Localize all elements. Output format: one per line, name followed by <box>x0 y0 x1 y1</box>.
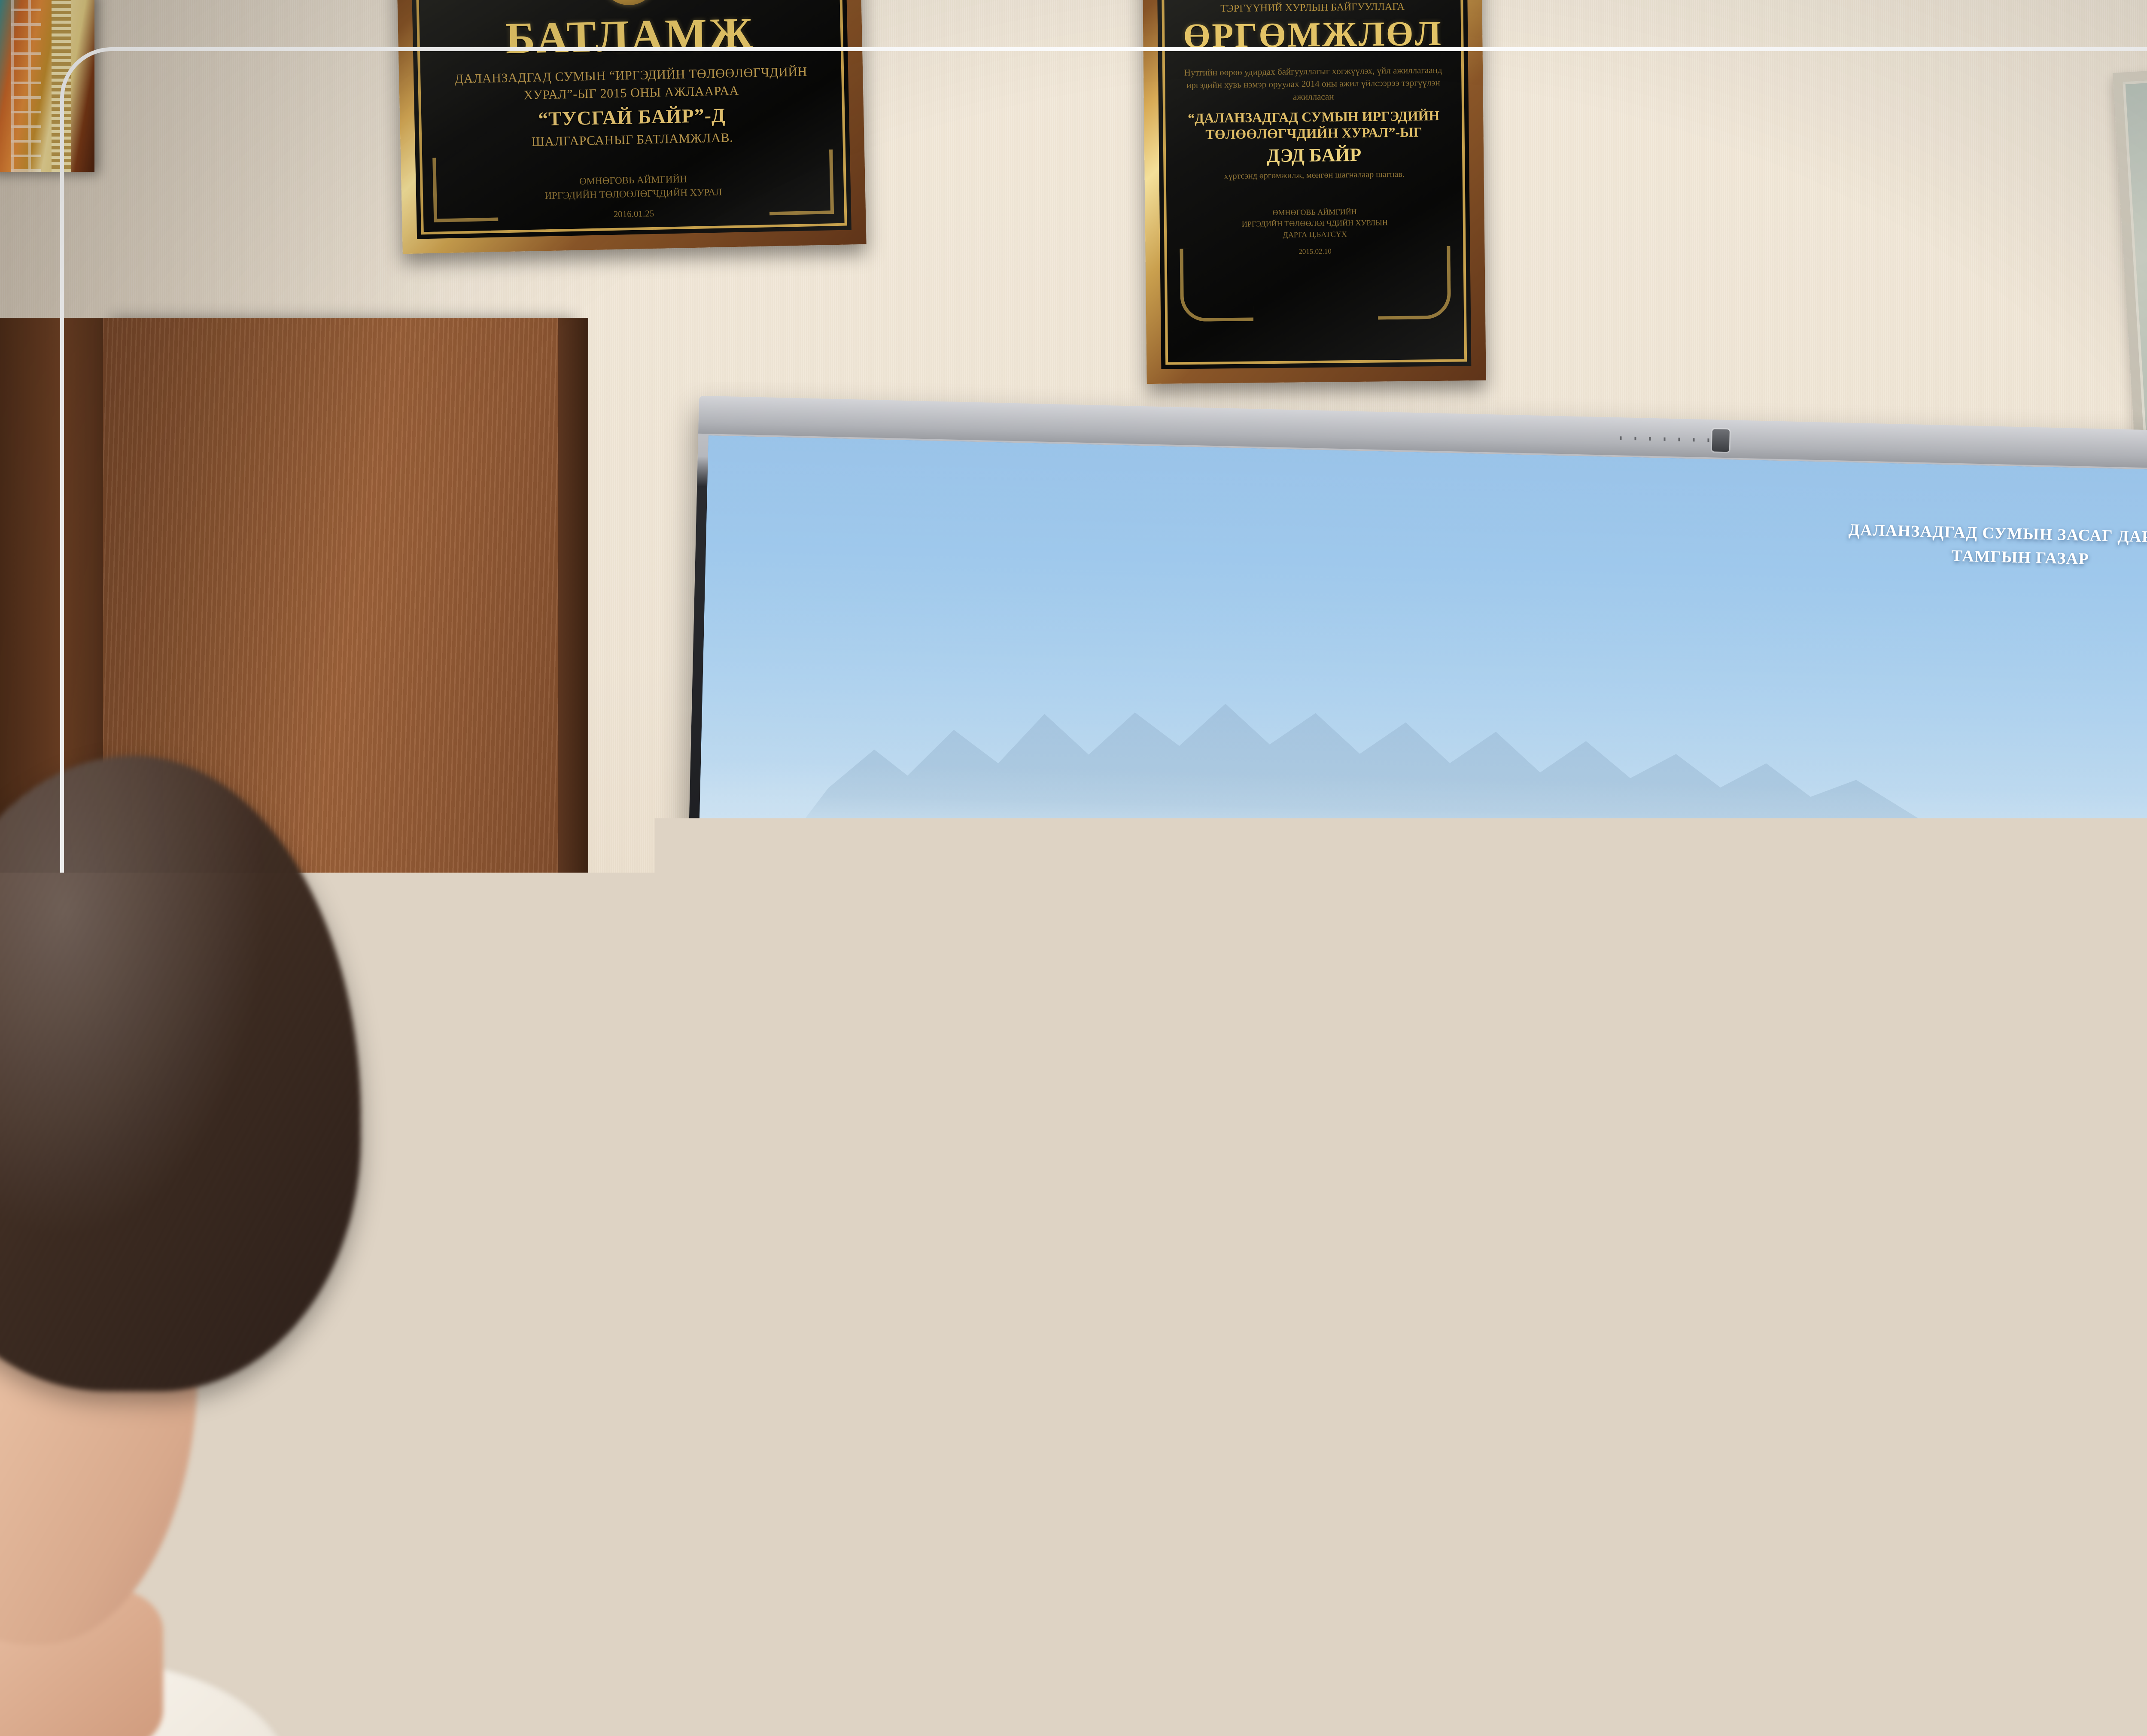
wall-picture-frame-partial <box>0 0 94 172</box>
bottle-cap[interactable] <box>1671 1536 1728 1576</box>
plaque-highlight-2: ТӨЛӨӨЛӨГЧДИЙН ХУРАЛ”-ЫГ <box>1180 124 1447 143</box>
power-icon[interactable] <box>790 1375 809 1393</box>
presentation-slide[interactable]: ДАЛАНЗАДГАД СУМЫН ЗАСАГ ДАРГЫН ТАМГЫН ГА… <box>687 435 2147 1373</box>
water-bottle-blurred-b[interactable] <box>1640 1563 1758 1736</box>
plaque-inner: БАТЛАМЖ ДАЛАНЗАДГАД СУМЫН “ИРГЭДИЙН ТӨЛӨ… <box>411 0 852 239</box>
man-seated <box>2095 1022 2147 1736</box>
folder-b <box>1755 1549 1980 1736</box>
slide-organization: ДАЛАНЗАДГАД СУМЫН ЗАСАГ ДАРГЫН ТАМГЫН ГА… <box>1848 518 2147 574</box>
door-frame-right <box>558 318 588 1736</box>
woman-foreground <box>0 756 438 1736</box>
slide-year: 2026 он <box>1324 1245 1393 1270</box>
plaque-title: ӨРГӨМЖЛӨЛ <box>1158 13 1468 57</box>
door-keyhole-icon <box>441 1370 451 1384</box>
usb-icon[interactable] <box>910 1380 929 1394</box>
plaque-corner-ornament <box>1377 246 1451 320</box>
bottle-brand: MIRAGE <box>1305 1584 1368 1601</box>
bottle-body <box>1486 1546 1602 1736</box>
bottle-cap[interactable] <box>1516 1519 1572 1559</box>
pink-object <box>1958 1696 2035 1736</box>
bottle-neck-ring <box>1297 1462 1353 1470</box>
usb-icon[interactable] <box>845 1379 864 1392</box>
plaque-corner-ornament <box>768 149 834 215</box>
status-led-icon <box>821 1380 832 1389</box>
indicator-icon <box>1946 1396 1953 1408</box>
plaque-body-top: Нутгийн өөрөө удирдах байгууллагыг хөгжү… <box>1180 64 1447 105</box>
frame-beading <box>52 0 71 172</box>
indicator-icon <box>1566 1387 1572 1399</box>
usb-icon[interactable] <box>941 1381 960 1395</box>
interactive-display[interactable]: ДАЛАНЗАДГАД СУМЫН ЗАСАГ ДАРГЫН ТАМГЫН ГА… <box>675 396 2147 1440</box>
bottle-label: MIRAGE Natural Pure Water <box>1274 1548 1375 1633</box>
watermark-url: DALANZADGAD.OMNOGOVI.KHURAL.MN <box>129 1622 876 1676</box>
water-bottle-labeled[interactable]: MIRAGE Natural Pure Water <box>1271 1451 1378 1736</box>
screenshot-root: БАТЛАМЖ ДАЛАНЗАДГАД СУМЫН “ИРГЭДИЙН ТӨЛӨ… <box>0 0 2147 1736</box>
bottle-sub-label: Natural Pure Water <box>1307 1611 1372 1620</box>
plaque-corner-ornament <box>432 157 498 222</box>
bottle-neck-ring <box>1514 1557 1574 1565</box>
plaque-date: 2016.01.25 <box>447 205 821 223</box>
camera-icon <box>1712 429 1729 452</box>
plaque-body-bottom: хүртсэнд өргөмжилж, мөнгөн шагналаар шаг… <box>1181 168 1448 183</box>
plaque-highlight-1: “ДАЛАНЗАДГАД СУМЫН ИРГЭДИЙН <box>1180 108 1447 127</box>
bottle-neck-ring <box>1669 1574 1730 1582</box>
bottle-body <box>1640 1563 1758 1736</box>
plaque-corner-ornament <box>1180 248 1253 322</box>
plaque-body-top: ДАЛАНЗАДГАД СУМЫН “ИРГЭДИЙН ТӨЛӨӨЛӨГЧДИЙ… <box>444 63 818 106</box>
display-brand-logo: HUSHIDA <box>1320 1361 1415 1383</box>
hair <box>0 756 361 1391</box>
indicator-icon <box>875 1371 881 1382</box>
plaque-inner: ТЭРГҮҮНИЙ ХУРЛЫН БАЙГУУЛЛАГА ӨРГӨМЖЛӨЛ Н… <box>1157 0 1472 369</box>
plaque-highlight: “ТУСГАЙ БАЙР”-Д <box>445 102 819 132</box>
plaque-title: БАТЛАМЖ <box>412 6 848 66</box>
plaque-issuer-3: ДАРГА Ц.БАТСҮХ <box>1182 228 1448 242</box>
hair-strands <box>0 756 361 1391</box>
water-bottle-blurred-a[interactable] <box>1486 1546 1602 1736</box>
wall-plaque-urgumjlul: ТЭРГҮҮНИЙ ХУРЛЫН БАЙГУУЛЛАГА ӨРГӨМЖЛӨЛ Н… <box>1142 0 1486 384</box>
plaque-highlight-3: ДЭД БАЙР <box>1180 143 1447 167</box>
wall-plaque-batlamj: БАТЛАМЖ ДАЛАНЗАДГАД СУМЫН “ИРГЭДИЙН ТӨЛӨ… <box>396 0 866 254</box>
greek-key-pattern <box>11 0 41 172</box>
plaque-body-bottom: ШАЛГАРСАНЫГ БАТЛАМЖЛАВ. <box>445 128 819 153</box>
plaque-emblem-icon <box>600 0 657 6</box>
suit-jacket-left <box>2087 1529 2147 1736</box>
usb-c-icon[interactable] <box>972 1384 983 1393</box>
bottle-cap[interactable] <box>1299 1425 1350 1464</box>
